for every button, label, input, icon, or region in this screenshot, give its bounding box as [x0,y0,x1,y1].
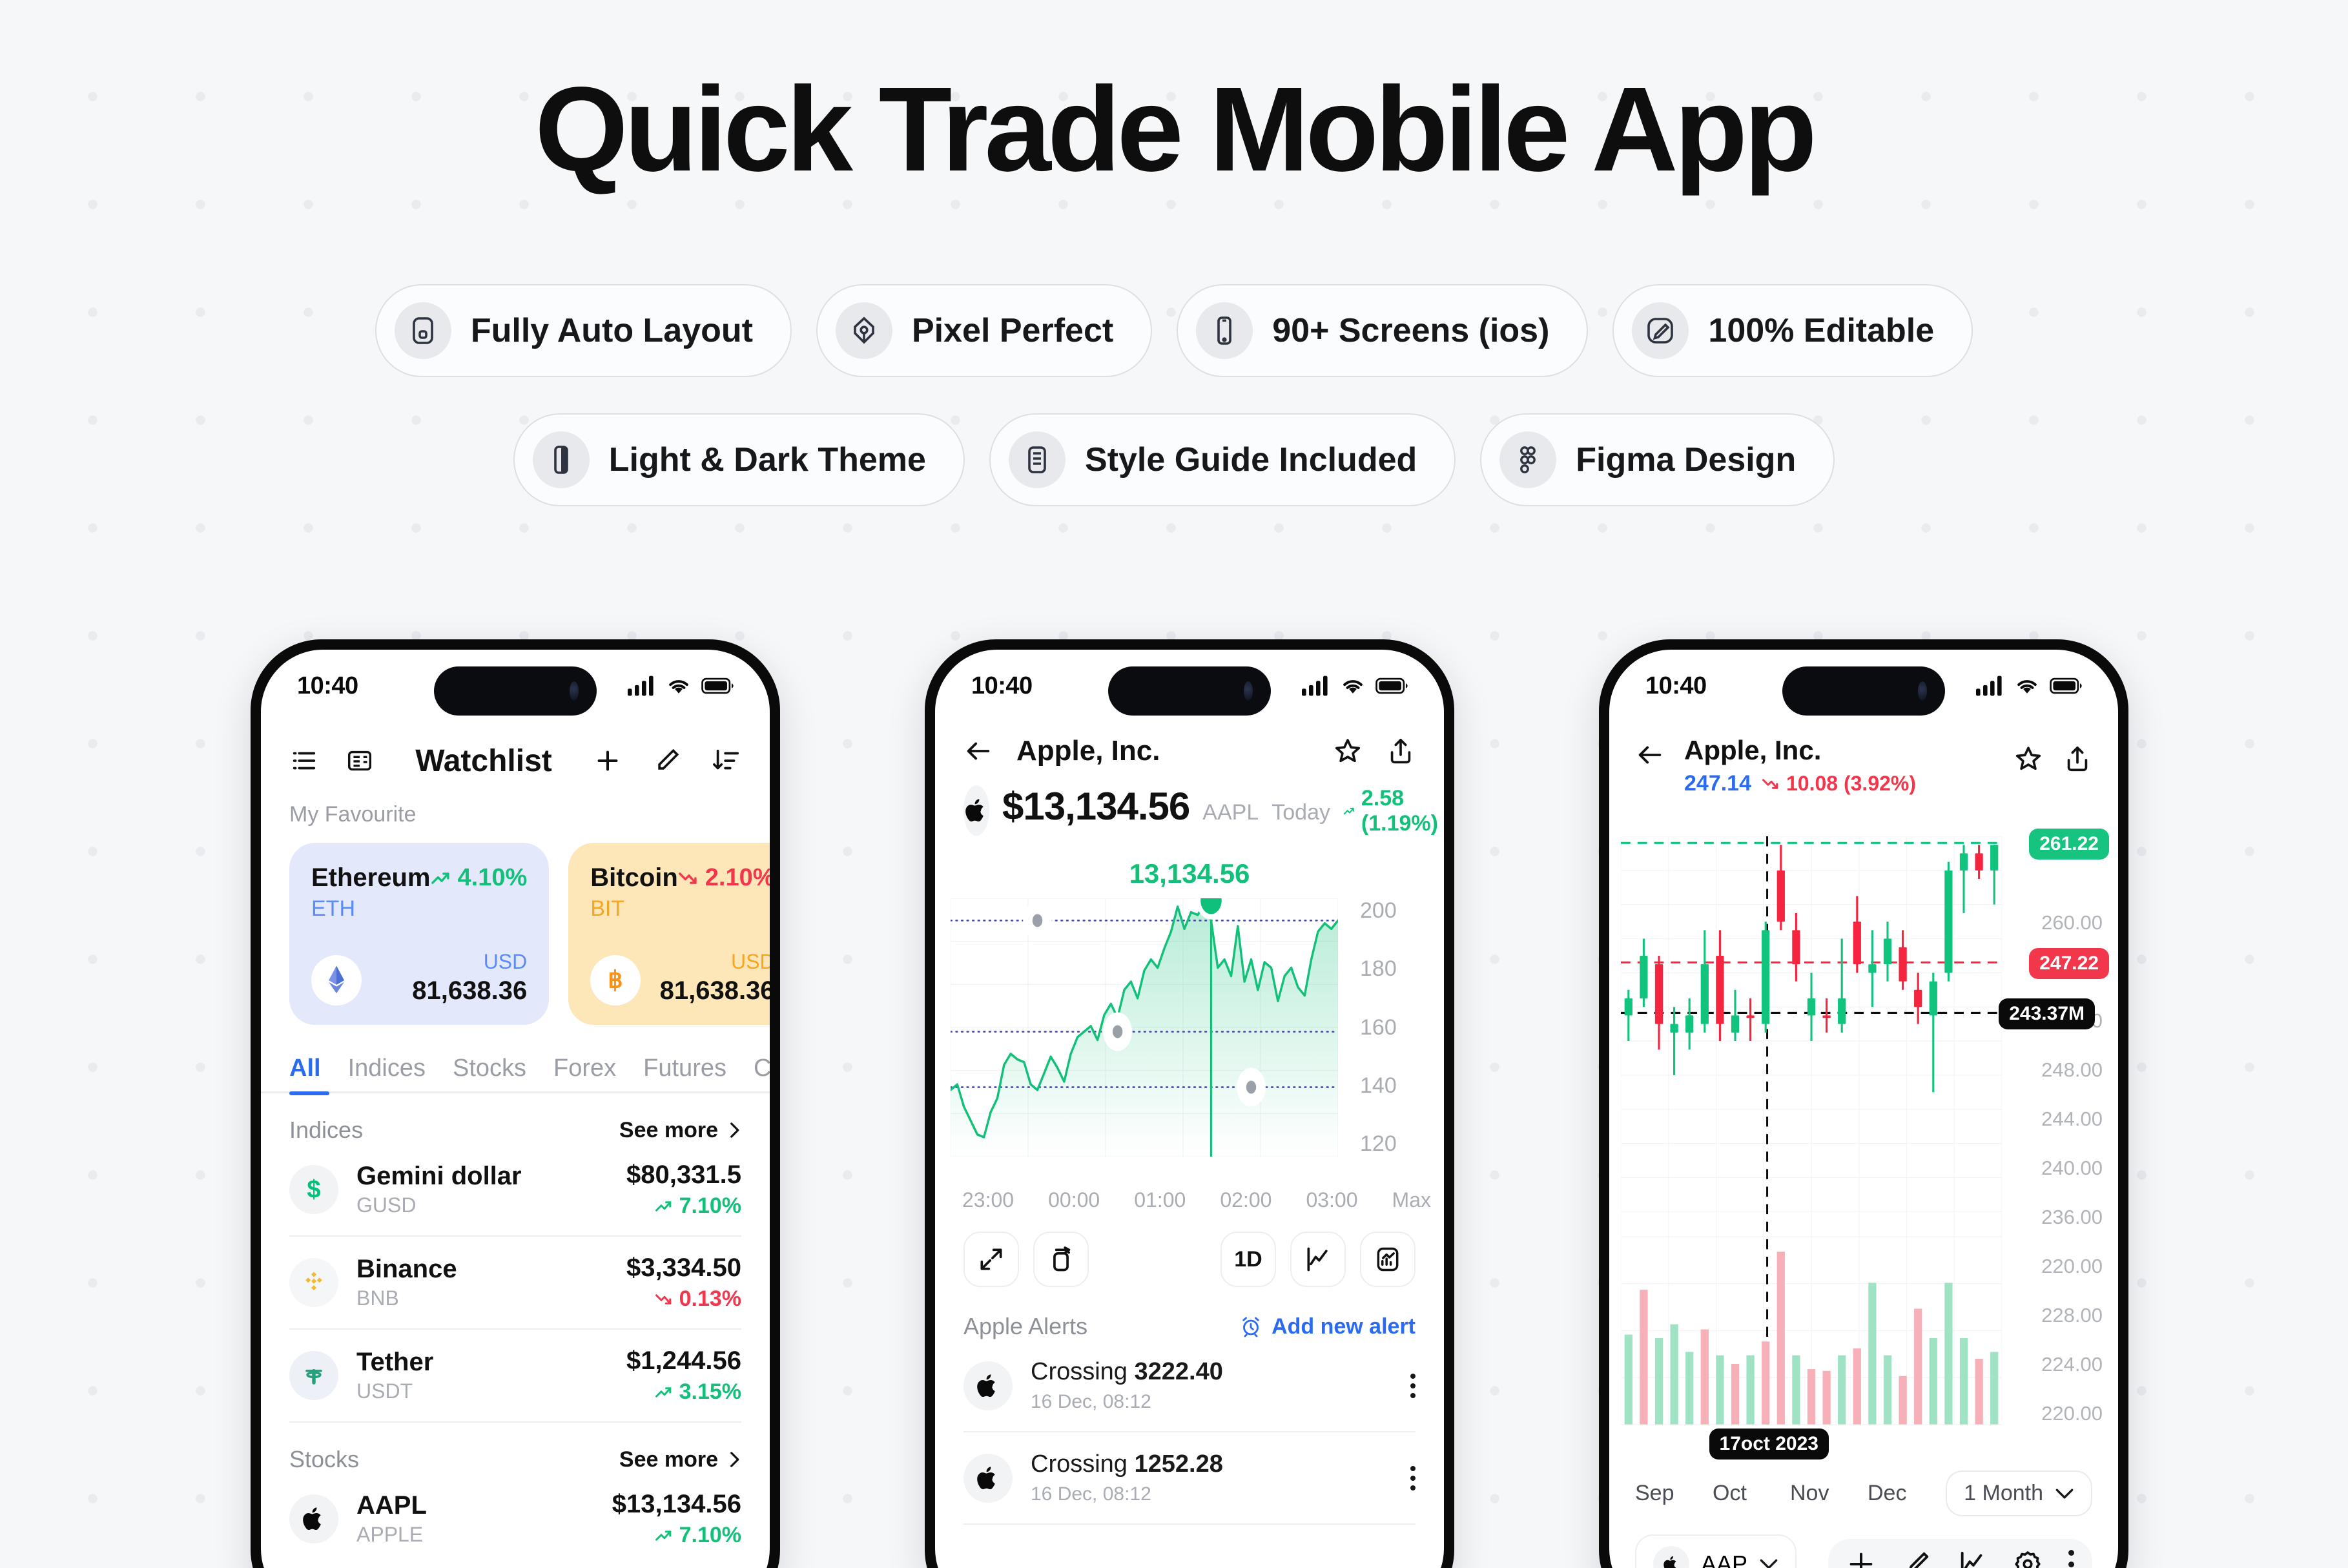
trend-down-icon [678,869,700,888]
page-title: Quick Trade Mobile App [0,70,2348,190]
expand-icon[interactable] [963,1232,1019,1287]
tab-futures[interactable]: Futures [643,1055,726,1082]
favourite-star-icon[interactable] [1333,736,1363,766]
status-time: 10:40 [297,672,358,700]
screen-watchlist: 10:40 Watchlist [261,650,770,1568]
feature-badges-row-2: Light & Dark Theme Style Guide Included … [0,413,2348,506]
alert-title: Crossing 1252.28 [1031,1450,1392,1478]
y-tick: 244.00 [2041,1108,2103,1131]
x-tick: Oct [1713,1481,1790,1506]
y-tick: 248.00 [2041,1058,2103,1082]
x-tick: Sep [1635,1481,1713,1506]
y-tick: 220.00 [2041,1255,2103,1278]
tab-all[interactable]: All [289,1055,321,1082]
x-tick: 03:00 [1306,1188,1357,1212]
compare-icon[interactable] [1033,1232,1089,1287]
favourite-star-icon[interactable] [2013,744,2043,774]
asset-price: $3,334.50 [626,1253,741,1283]
add-icon[interactable] [593,746,623,776]
asset-name: Gemini dollar [356,1162,608,1191]
alarm-icon [1239,1315,1262,1338]
coin-value: 81,638.36 [660,976,770,1006]
favourite-section-label: My Favourite [261,789,770,827]
mobile-icon [1196,302,1253,359]
favourite-card-btc[interactable]: Bitcoin 2.10% BIT ฿ US [568,843,770,1025]
apple-icon [963,1454,1013,1503]
screen-stock-detail: 10:40 Apple, Inc. [935,650,1444,1568]
edit-icon[interactable] [652,746,682,776]
theme-phone-icon [533,431,590,488]
list-item[interactable]: Tether USDT $1,244.56 3.15% [261,1330,770,1421]
detail-body: Apple, Inc. $13,134.56 AAPL Today 2.58 (… [935,722,1444,1568]
y-tick: 200 [1360,898,1397,923]
svg-text:฿: ฿ [608,967,623,993]
list-item[interactable]: Crossing 1252.28 16 Dec, 08:12 [935,1432,1444,1523]
status-time: 10:40 [971,672,1033,700]
list-icon[interactable] [289,746,319,776]
back-arrow-icon[interactable] [1635,740,1665,770]
trend-down-icon [655,1291,674,1308]
coin-name: Bitcoin [590,863,678,892]
feature-badge-label: Style Guide Included [1085,440,1417,479]
feature-badge[interactable]: Style Guide Included [989,413,1456,506]
share-icon[interactable] [1386,736,1416,766]
alert-title: Crossing 3222.40 [1031,1358,1392,1386]
back-arrow-icon[interactable] [963,736,993,766]
trend-up-icon [655,1527,674,1544]
pen-tool-icon [836,302,892,359]
crosshair-value-pill: 243.37M [1999,998,2095,1029]
trend-up-icon [1343,803,1356,820]
list-item[interactable]: AAPL APPLE $13,134.56 7.10% [261,1473,770,1565]
list-item[interactable]: $ Gemini dollar GUSD $80,331.5 7.10% [261,1144,770,1235]
screen-candlestick: 10:40 Apple, Inc. 247.14 [1609,650,2118,1568]
currency-label: USD [660,950,770,974]
trend-up-icon [655,1198,674,1215]
currency-label: USD [412,950,527,974]
tether-icon [289,1351,338,1400]
dynamic-island [1108,666,1271,716]
gemini-dollar-icon: $ [289,1165,338,1214]
apple-icon [963,785,989,836]
x-tick: 00:00 [1048,1188,1100,1212]
share-icon[interactable] [2063,744,2092,774]
symbol-selector[interactable]: AAP [1635,1534,1797,1568]
feature-badge-label: 90+ Screens (ios) [1272,311,1549,350]
group-title: Indices [289,1117,363,1144]
feature-badge[interactable]: Light & Dark Theme [513,413,965,506]
high-price-pill: 261.22 [2029,829,2109,860]
alerts-label: Apple Alerts [963,1313,1087,1340]
alert-time: 16 Dec, 08:12 [1031,1483,1392,1505]
coin-symbol: ETH [311,896,527,922]
x-tick: Max [1392,1188,1431,1212]
poster-canvas: Quick Trade Mobile App Fully Auto Layout… [0,0,2348,1568]
candlestick-body: Apple, Inc. 247.14 10.08 (3.92%) [1609,722,2118,1568]
asset-change: 7.10% [626,1193,741,1219]
y-tick: 260.00 [2041,911,2103,934]
period-label: Today [1272,800,1330,825]
category-tabs: All Indices Stocks Forex Futures Crypto … [261,1025,770,1082]
phone-mockup-watchlist: 10:40 Watchlist [251,639,780,1568]
asset-name: AAPL [356,1491,594,1520]
feature-badge-label: 100% Editable [1708,311,1934,350]
dynamic-island [1782,666,1945,716]
asset-price: $1,244.56 [626,1346,741,1376]
asset-change: 7.10% [612,1523,741,1548]
coin-change: 4.10% [431,864,528,892]
line-chart-icon[interactable] [1290,1232,1346,1287]
auto-layout-icon [395,302,451,359]
feature-badge[interactable]: Figma Design [1480,413,1835,506]
group-title: Stocks [289,1446,359,1473]
phone-mockup-candlestick: 10:40 Apple, Inc. 247.14 [1599,639,2128,1568]
chart-toolbar: 1D [935,1215,1444,1287]
wifi-icon [1339,675,1366,697]
chevron-down-icon [1759,1558,1778,1568]
y-tick: 236.00 [2041,1206,2103,1229]
battery-icon [1375,675,1408,697]
draw-icon[interactable] [1902,1549,1931,1568]
symbol-label: AAP [1701,1551,1747,1568]
drawing-tools [1828,1539,2092,1568]
coin-value: 81,638.36 [412,976,527,1006]
list-item[interactable]: Crossing 3222.40 16 Dec, 08:12 [935,1340,1444,1431]
coin-change: 2.10% [678,864,770,892]
trend-down-icon [1762,776,1781,792]
status-time: 10:40 [1645,672,1707,700]
timeframe-1d-button[interactable]: 1D [1220,1232,1276,1287]
battery-icon [701,675,734,697]
alert-time: 16 Dec, 08:12 [1031,1391,1392,1413]
more-icon[interactable] [1410,1466,1416,1491]
apple-icon [1653,1546,1689,1568]
feature-badge-label: Light & Dark Theme [609,440,926,479]
apple-icon [963,1361,1013,1410]
sort-icon[interactable] [712,746,741,776]
trend-up-icon [431,869,453,888]
chart-bottom-toolbar: AAP [1609,1516,2118,1568]
asset-price: $13,134.56 [612,1490,741,1519]
binance-icon [289,1258,338,1307]
chart-tooltip-value: 13,134.56 [935,858,1444,889]
status-icons [1302,675,1408,697]
x-tick: Dec [1868,1481,1939,1506]
trend-up-icon [655,1384,674,1401]
y-axis-labels: 200 180 160 140 120 [1360,898,1431,1157]
feature-badge[interactable]: Fully Auto Layout [375,284,792,377]
battery-icon [2050,675,2082,697]
more-icon[interactable] [2068,1550,2074,1568]
x-tick: Nov [1790,1481,1868,1506]
current-price: 247.14 [1684,771,1751,796]
cellular-icon [1976,675,2004,697]
coin-symbol: BIT [590,896,770,922]
price-change: 2.58 (1.19%) [1343,786,1444,836]
alerts-header: Apple Alerts Add new alert [935,1287,1444,1340]
asset-name: Tether [356,1348,608,1377]
tab-forex[interactable]: Forex [553,1055,616,1082]
ticker-symbol: AAPL [1202,800,1259,825]
status-icons [1976,675,2082,697]
svg-text:$: $ [307,1176,320,1203]
tab-indices[interactable]: Indices [348,1055,426,1082]
dynamic-island [434,666,597,716]
indicator-icon[interactable] [1360,1232,1416,1287]
feature-badges-row-1: Fully Auto Layout Pixel Perfect 90+ Scre… [0,284,2348,377]
asset-symbol: BNB [356,1286,608,1310]
asset-symbol: USDT [356,1379,608,1403]
feature-badge-label: Pixel Perfect [912,311,1113,350]
x-tick: 02:00 [1220,1188,1272,1212]
x-axis-labels: 23:00 00:00 01:00 02:00 03:00 Max [962,1188,1431,1212]
y-tick: 120 [1360,1131,1397,1157]
favourite-card-eth[interactable]: Ethereum 4.10% ETH US [289,843,549,1025]
page-title: Watchlist [375,743,593,779]
more-icon[interactable] [1410,1374,1416,1398]
timeframe-selector[interactable]: 1 Month [1946,1470,2092,1516]
current-price: $13,134.56 [1002,784,1189,829]
asset-price: $80,331.5 [626,1161,741,1190]
ethereum-icon [311,955,362,1006]
plus-icon[interactable] [1846,1549,1876,1568]
list-item[interactable]: Binance BNB $3,334.50 0.13% [261,1237,770,1328]
low-price-pill: 247.22 [2029,948,2109,979]
y-tick: 228.00 [2041,1304,2103,1327]
phone-mockup-detail: 10:40 Apple, Inc. [925,639,1454,1568]
asset-change: 3.15% [626,1379,741,1405]
y-tick: 240.00 [2041,1157,2103,1180]
gear-icon[interactable] [2013,1549,2043,1568]
x-tick: 01:00 [1134,1188,1186,1212]
y-tick: 180 [1360,956,1397,982]
favourites-row: Ethereum 4.10% ETH US [261,827,770,1025]
add-new-alert-button[interactable]: Add new alert [1239,1314,1416,1339]
asset-name: Binance [356,1255,608,1284]
feature-badge[interactable]: Pixel Perfect [816,284,1152,377]
tab-crypto[interactable]: Crypto [754,1055,770,1082]
apple-icon [289,1494,338,1543]
divider [963,1523,1416,1525]
style-guide-icon [1009,431,1066,488]
cellular-icon [628,675,656,697]
see-more-link[interactable]: See more [619,1447,741,1472]
cellular-icon [1302,675,1330,697]
line-chart-icon[interactable] [1957,1549,1987,1568]
group-header-stocks: Stocks See more [261,1423,770,1473]
tabs-underline [261,1091,770,1093]
y-tick: 160 [1360,1015,1397,1040]
bitcoin-icon: ฿ [590,955,641,1006]
page-title: Apple, Inc. [1684,735,1994,766]
status-icons [628,675,734,697]
price-change: 10.08 (3.92%) [1762,772,1916,796]
feature-badge[interactable]: 90+ Screens (ios) [1177,284,1588,377]
x-tick: 23:00 [962,1188,1014,1212]
y-tick: 140 [1360,1073,1397,1099]
wifi-icon [665,675,692,697]
crosshair-date-pill: 17oct 2023 [1709,1429,1829,1460]
candlestick-chart[interactable]: 260.00256.00252.00248.00244.00240.00236.… [1609,808,2118,1467]
feature-badge-label: Fully Auto Layout [471,311,753,350]
chevron-right-icon [727,1451,741,1468]
group-header-indices: Indices See more [261,1093,770,1144]
figma-icon [1499,431,1556,488]
feature-badge-label: Figma Design [1576,440,1796,479]
tab-stocks[interactable]: Stocks [453,1055,526,1082]
y-tick: 220.00 [2041,1402,2103,1425]
asset-symbol: APPLE [356,1523,594,1547]
coin-name: Ethereum [311,863,431,892]
chevron-down-icon [2055,1487,2074,1500]
see-more-link[interactable]: See more [619,1118,741,1143]
candlestick-canvas [1621,836,2002,1437]
wifi-icon [2013,675,2041,697]
detail-header: Apple, Inc. 247.14 10.08 (3.92%) [1609,722,2118,796]
area-chart-canvas [951,898,1338,1157]
edit-square-icon [1632,302,1689,359]
chevron-right-icon [727,1122,741,1139]
detail-header: Apple, Inc. [935,722,1444,767]
asset-change: 0.13% [626,1286,741,1312]
price-summary: $13,134.56 AAPL Today 2.58 (1.19%) [935,767,1444,836]
area-chart[interactable]: 13,134.56 200 180 160 140 120 [935,853,1444,1215]
watchlist-header: Watchlist [261,722,770,789]
page-title: Apple, Inc. [1016,735,1310,767]
news-icon[interactable] [345,746,375,776]
asset-symbol: GUSD [356,1193,608,1217]
y-tick: 224.00 [2041,1353,2103,1376]
x-axis-labels: Sep Oct Nov Dec 1 Month [1609,1470,2118,1516]
watchlist-body: Watchlist My Favourite Ethereum [261,722,770,1568]
feature-badge[interactable]: 100% Editable [1612,284,1973,377]
